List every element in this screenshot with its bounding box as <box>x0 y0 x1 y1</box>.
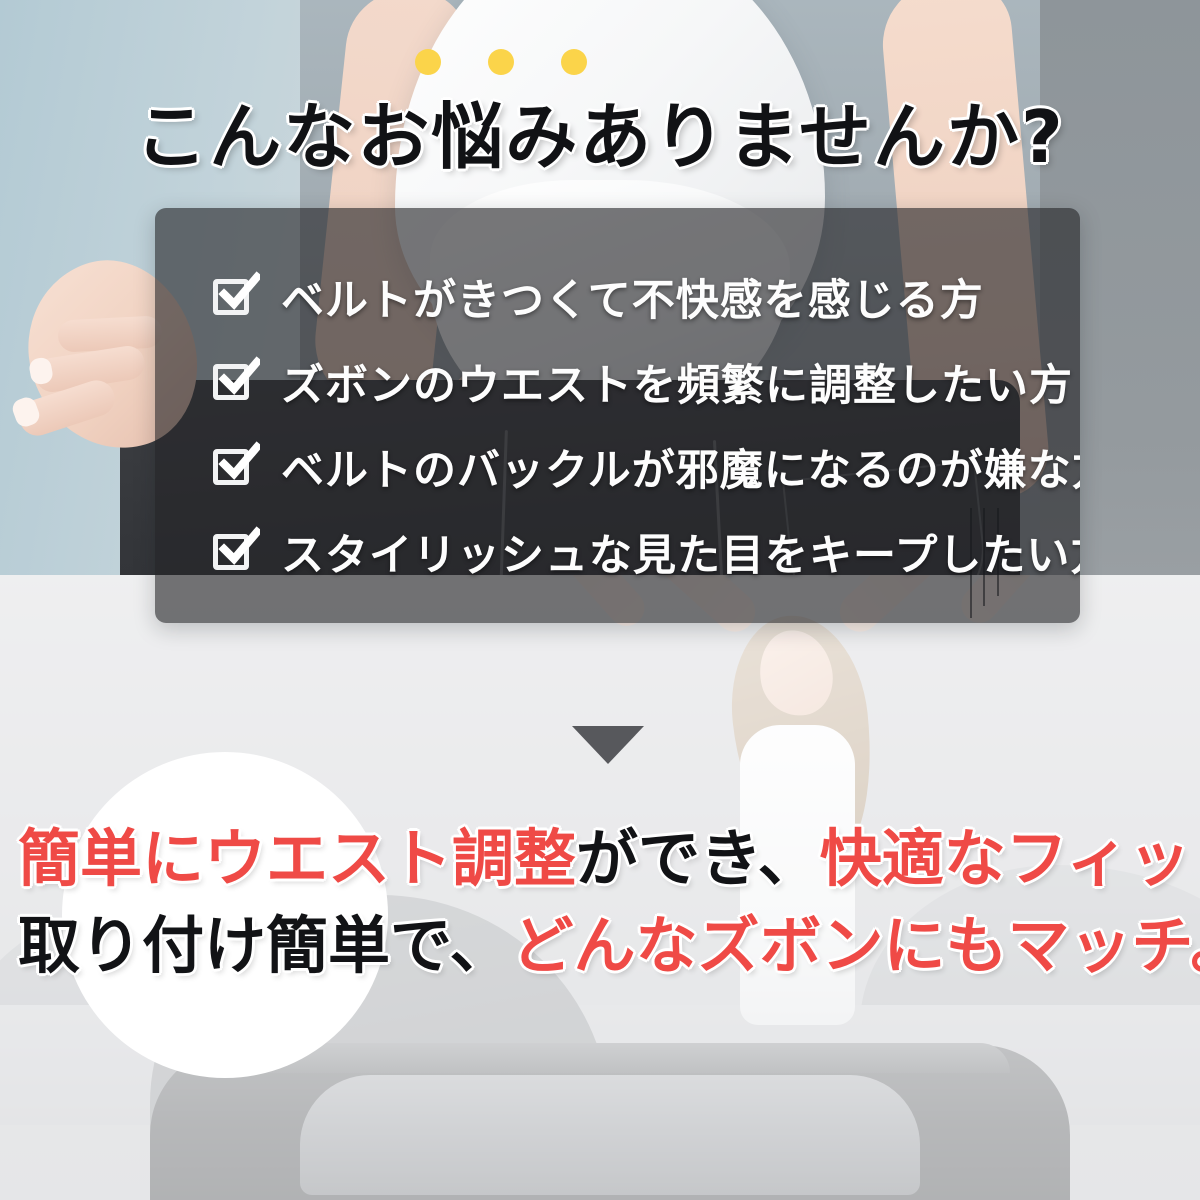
promo-banner: こんなお悩みありませんか? ベルトがきつくて不快感を感じる方 <box>0 0 1200 1200</box>
catch-segment: どんなズボンにもマッチ。 <box>512 909 1200 982</box>
checkbox-checked-icon <box>213 530 257 574</box>
problem-list-panel: ベルトがきつくて不快感を感じる方 ズボンのウエストを頻繁に調整したい方 <box>155 208 1080 623</box>
checkbox-checked-icon <box>213 360 257 404</box>
checkbox-checked-icon <box>213 275 257 319</box>
list-item: ベルトがきつくて不快感を感じる方 <box>213 266 984 328</box>
model-finger <box>57 315 163 352</box>
list-item: ズボンのウエストを頻繁に調整したい方 <box>213 351 1073 413</box>
page-title: こんなお悩みありませんか? <box>0 78 1200 183</box>
dot-3-icon <box>561 49 587 75</box>
catch-segment: ができ、 <box>576 822 820 895</box>
problem-checklist: ベルトがきつくて不快感を感じる方 ズボンのウエストを頻繁に調整したい方 <box>155 208 1080 623</box>
list-item-label: ベルトがきつくて不快感を感じる方 <box>281 266 984 328</box>
catch-segment: 快適なフィット感。 <box>820 822 1200 895</box>
dot-2-icon <box>488 49 514 75</box>
catch-segment: 取り付け簡単で、 <box>18 909 512 982</box>
catch-copy: 簡単にウエスト調整ができ、快適なフィット感。 取り付け簡単で、どんなズボンにもマ… <box>0 826 1200 980</box>
list-item: ベルトのバックルが邪魔になるのが嫌な方 <box>213 436 1080 498</box>
catch-copy-line-1: 簡単にウエスト調整ができ、快適なフィット感。 <box>0 826 1200 893</box>
catch-copy-line-2: 取り付け簡単で、どんなズボンにもマッチ。 <box>0 913 1200 980</box>
catch-segment: 簡単にウエスト調整 <box>18 822 576 895</box>
list-item-label: スタイリッシュな見た目をキープしたい方 <box>281 521 1080 583</box>
list-item-label: ベルトのバックルが邪魔になるのが嫌な方 <box>281 436 1080 498</box>
dot-1-icon <box>415 49 441 75</box>
decorative-dots <box>415 49 595 79</box>
checkbox-checked-icon <box>213 445 257 489</box>
list-item: スタイリッシュな見た目をキープしたい方 <box>213 521 1080 583</box>
triangle-down-icon <box>572 726 644 764</box>
list-item-label: ズボンのウエストを頻繁に調整したい方 <box>281 351 1073 413</box>
